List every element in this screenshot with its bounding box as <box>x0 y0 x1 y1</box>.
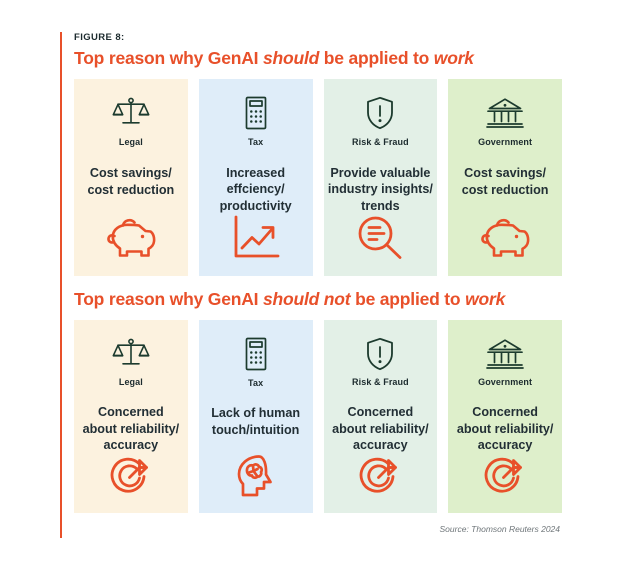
card-row-should-not: Legal Concerned about reliability/ accur… <box>74 320 562 513</box>
card-row-should: Legal Cost savings/ cost reduction <box>74 79 562 276</box>
reason-text: Cost savings/ cost reduction <box>83 165 178 198</box>
title-1-part-0: Top reason why GenAI <box>74 48 263 68</box>
sector-label: Tax <box>248 378 263 388</box>
sector-label: Risk & Fraud <box>352 377 409 387</box>
sector-label: Tax <box>248 137 263 147</box>
government-building-icon <box>486 94 524 132</box>
section-title-should: Top reason why GenAI should be applied t… <box>74 48 562 69</box>
piggy-bank-icon <box>105 214 157 262</box>
card-government-should-not[interactable]: Government Concerned about reliability/ … <box>448 320 562 513</box>
card-legal-should-not[interactable]: Legal Concerned about reliability/ accur… <box>74 320 188 513</box>
piggy-bank-icon <box>479 214 531 262</box>
sector-label: Government <box>478 377 532 387</box>
reason-text: Concerned about reliability/ accuracy <box>328 404 433 454</box>
card-risk-fraud-should-not[interactable]: Risk & Fraud Concerned about reliability… <box>324 320 438 513</box>
sector-label: Legal <box>119 377 143 387</box>
shield-alert-icon <box>365 335 395 372</box>
scales-icon <box>112 335 150 372</box>
title-2-part-0: Top reason why GenAI <box>74 289 263 309</box>
source-credit: Source: Thomson Reuters 2024 <box>74 524 562 534</box>
title-1-part-2: be applied to <box>319 48 434 68</box>
figure-content: FIGURE 8: Top reason why GenAI should be… <box>74 32 562 534</box>
target-dart-icon <box>357 454 403 499</box>
title-1-part-3: work <box>434 48 474 68</box>
reason-text: Concerned about reliability/ accuracy <box>453 404 558 454</box>
head-brain-icon <box>233 453 279 499</box>
calculator-icon <box>242 94 270 132</box>
sector-label: Legal <box>119 137 143 147</box>
target-dart-icon <box>482 454 528 499</box>
sector-label: Government <box>478 137 532 147</box>
sector-label: Risk & Fraud <box>352 137 409 147</box>
card-risk-fraud-should[interactable]: Risk & Fraud Provide valuable industry i… <box>324 79 438 276</box>
shield-alert-icon <box>365 94 395 132</box>
left-accent-rule <box>60 32 62 538</box>
reason-text: Lack of human touch/intuition <box>207 405 304 438</box>
reason-text: Increased effciency/ productivity <box>216 165 296 215</box>
calculator-icon <box>242 335 270 373</box>
card-government-should[interactable]: Government Cost savings/ cost reduction <box>448 79 562 276</box>
reason-text: Cost savings/ cost reduction <box>458 165 553 198</box>
scales-icon <box>112 94 150 132</box>
card-legal-should[interactable]: Legal Cost savings/ cost reduction <box>74 79 188 276</box>
title-2-part-2: be applied to <box>350 289 465 309</box>
card-tax-should[interactable]: Tax Increased effciency/ productivity <box>199 79 313 276</box>
title-2-part-1: should not <box>263 289 350 309</box>
section-title-should-not: Top reason why GenAI should not be appli… <box>74 289 562 310</box>
growth-chart-icon <box>231 214 281 262</box>
magnifier-insights-icon <box>356 214 404 262</box>
reason-text: Concerned about reliability/ accuracy <box>79 404 184 454</box>
title-2-part-3: work <box>465 289 505 309</box>
government-building-icon <box>486 335 524 372</box>
target-dart-icon <box>108 454 154 499</box>
figure-panel: FIGURE 8: Top reason why GenAI should be… <box>0 0 624 571</box>
figure-label: FIGURE 8: <box>74 32 562 43</box>
card-tax-should-not[interactable]: Tax Lack of human touch/intuition <box>199 320 313 513</box>
title-1-part-1: should <box>263 48 319 68</box>
reason-text: Provide valuable industry insights/ tren… <box>324 165 437 215</box>
